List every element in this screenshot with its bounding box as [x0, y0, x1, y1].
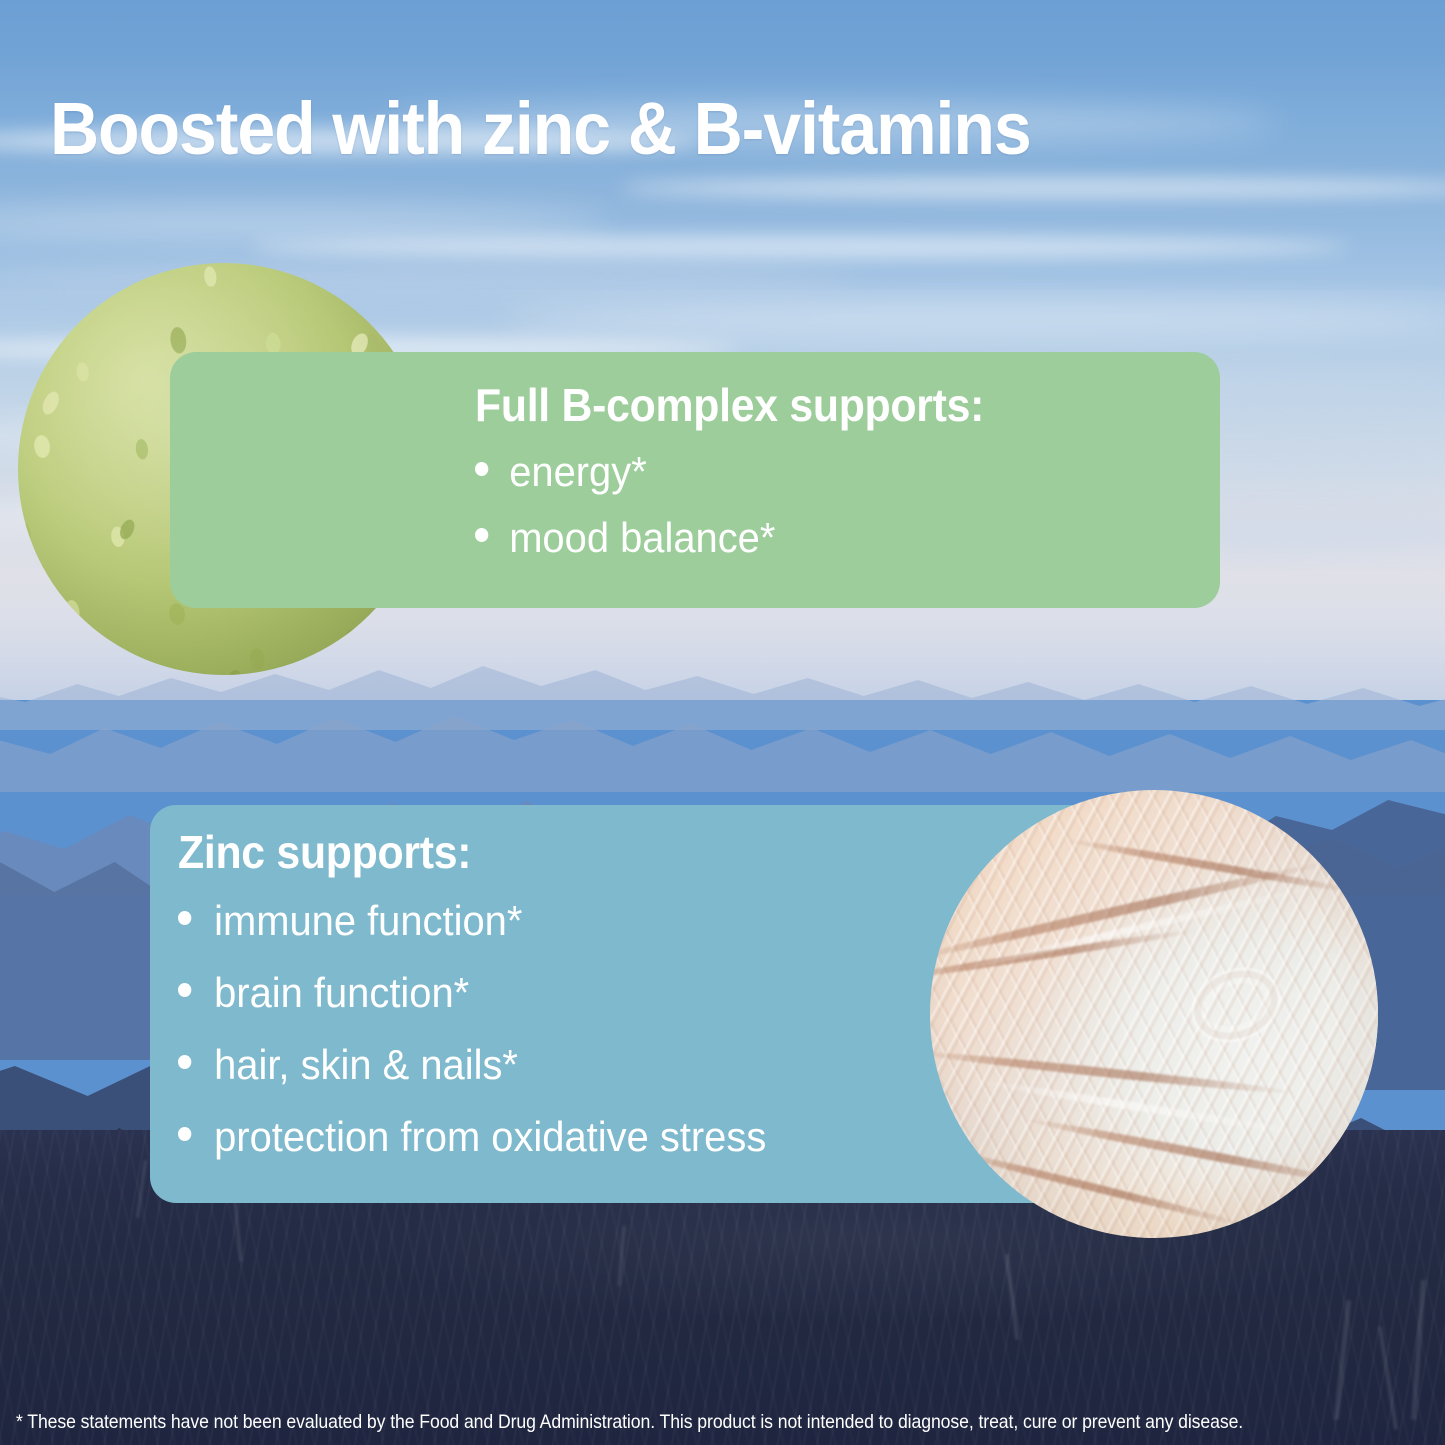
list-item: mood balance* — [475, 517, 1183, 559]
skin-vignette — [930, 790, 1378, 1238]
list-item-label: protection from oxidative stress — [214, 1116, 766, 1158]
list-item-label: hair, skin & nails* — [214, 1044, 518, 1086]
cloud-streak — [500, 300, 1445, 336]
panel-b-complex: Full B-complex supports: energy* mood ba… — [170, 352, 1220, 608]
bullet-icon — [475, 528, 488, 542]
list-item-label: mood balance* — [509, 517, 775, 559]
fda-disclaimer: * These statements have not been evaluat… — [16, 1412, 1301, 1433]
page-title: Boosted with zinc & B-vitamins — [50, 92, 1031, 166]
bullet-icon — [178, 983, 191, 997]
panel-b-complex-title: Full B-complex supports: — [475, 382, 1168, 429]
bullet-icon — [178, 911, 191, 925]
list-item-label: immune function* — [214, 900, 522, 942]
list-item: energy* — [475, 451, 1183, 493]
panel-b-complex-list: energy* mood balance* — [475, 451, 1220, 559]
list-item-label: energy* — [509, 451, 647, 493]
bullet-icon — [475, 462, 488, 476]
list-item-label: brain function* — [214, 972, 469, 1014]
skin-nails-disc — [930, 790, 1378, 1238]
product-infographic: Full B-complex supports: energy* mood ba… — [0, 0, 1445, 1445]
bullet-icon — [178, 1055, 191, 1069]
bullet-icon — [178, 1127, 191, 1141]
cloud-streak — [250, 236, 1350, 258]
